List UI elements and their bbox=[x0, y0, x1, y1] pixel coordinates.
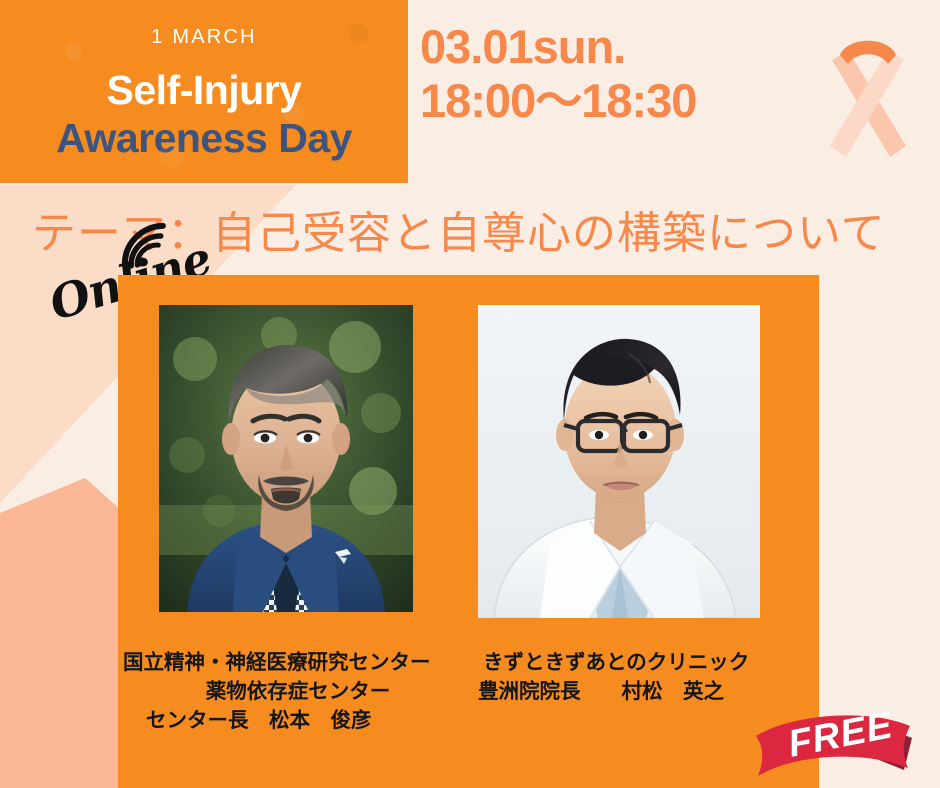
header-block: 1 MARCH Self-Injury Awareness Day bbox=[0, 0, 408, 183]
header-title-line2: Awareness Day bbox=[0, 118, 408, 159]
credit-row: 薬物依存症センター豊洲院院長 村松 英之 bbox=[118, 677, 819, 706]
credit-dept-left: 薬物依存症センター bbox=[118, 677, 478, 706]
credit-org-left: 国立精神・神経医療研究センター bbox=[118, 648, 483, 677]
speaker-credits: 国立精神・神経医療研究センターきずときずあとのクリニック 薬物依存症センター豊洲… bbox=[118, 648, 819, 758]
speaker-photo-left bbox=[159, 305, 413, 612]
header-title-line1: Self-Injury bbox=[0, 70, 408, 111]
credit-org-right: きずときずあとのクリニック bbox=[483, 648, 749, 677]
credit-name-right: 豊洲院院長 村松 英之 bbox=[478, 677, 724, 706]
credit-row: 国立精神・神経医療研究センターきずときずあとのクリニック bbox=[118, 648, 819, 677]
schedule-block: 03.01sun. 18:00〜18:30 bbox=[420, 22, 820, 126]
header-date-label: 1 MARCH bbox=[0, 26, 408, 49]
speaker-photo-right bbox=[478, 305, 760, 618]
schedule-time: 18:00〜18:30 bbox=[420, 76, 820, 126]
credit-row: センター長 松本 俊彦 bbox=[118, 706, 819, 735]
free-banner: FREE bbox=[752, 692, 940, 788]
poster-canvas: 1 MARCH Self-Injury Awareness Day 03.01s… bbox=[0, 0, 940, 788]
schedule-date: 03.01sun. bbox=[420, 22, 820, 72]
awareness-ribbon-icon bbox=[818, 24, 918, 164]
credit-name-left: センター長 松本 俊彦 bbox=[118, 706, 506, 735]
